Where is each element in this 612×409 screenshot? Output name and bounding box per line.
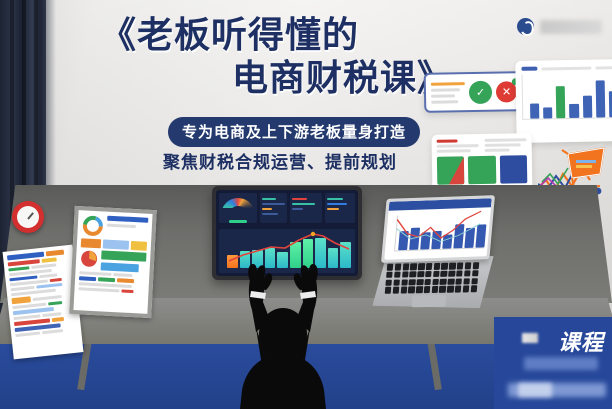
subtitle: 聚焦财税合规运营、提前规划 — [163, 148, 397, 173]
page-title: 《老板听得懂的 电商财税课》 — [84, 14, 464, 100]
title-line-1: 《老板听得懂的 — [84, 14, 464, 56]
kpi-panel-3 — [325, 193, 355, 223]
laptop-trackpad[interactable] — [411, 295, 446, 308]
laptop-lid — [381, 195, 495, 263]
approval-card: ✓ ✕ — [424, 71, 525, 113]
document-card-header — [437, 138, 527, 153]
promo-line-3-redacted — [518, 383, 552, 397]
document-card-blocks — [437, 155, 527, 185]
approval-card-lines — [431, 82, 465, 104]
audience-pill: 专为电商及上下游老板量身打造 — [168, 117, 420, 147]
title-line-2: 电商财税课》 — [84, 56, 464, 100]
promo-prefix-redacted — [522, 333, 538, 343]
cross-circle-icon: ✕ — [496, 81, 517, 102]
donut-chart-icon — [81, 214, 104, 237]
brand-lockup — [517, 18, 602, 35]
promo-line-1-redacted — [524, 357, 598, 370]
pie-chart-icon — [80, 249, 99, 268]
s-swoosh-logo-icon — [517, 18, 534, 35]
laptop-device[interactable] — [372, 197, 494, 309]
check-circle-icon: ✓ — [469, 80, 492, 103]
kpi-panel-2 — [290, 193, 323, 223]
gauge-panel — [219, 193, 257, 223]
laptop-chart[interactable] — [384, 198, 491, 260]
wall-clock-icon — [12, 201, 44, 233]
bar-chart-card-header — [521, 65, 612, 71]
kpi-panel-1 — [260, 193, 287, 223]
promo-title: 课程 — [558, 325, 604, 357]
gauge-chart-icon — [221, 198, 255, 218]
laptop-trend-line — [384, 198, 491, 260]
analytics-report-page — [69, 206, 157, 318]
dashboard-top-row — [219, 193, 355, 223]
laptop-keyboard[interactable] — [385, 262, 480, 294]
bar-chart-card-plot — [522, 73, 612, 120]
poster-canvas: 《老板听得懂的 电商财税课》 专为电商及上下游老板量身打造 聚焦财税合规运营、提… — [0, 0, 612, 409]
bar-chart-card — [515, 59, 612, 143]
businessman-silhouette — [218, 262, 348, 409]
brand-name-redacted — [540, 20, 602, 34]
promo-panel: 课程 — [494, 317, 612, 409]
